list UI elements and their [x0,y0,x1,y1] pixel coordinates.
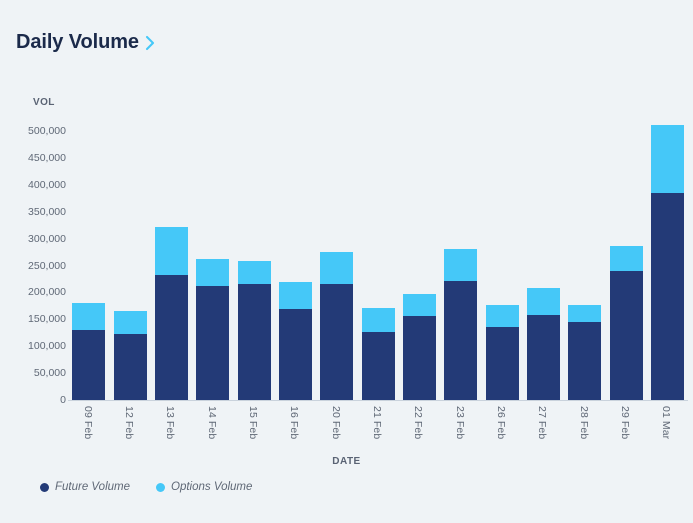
y-axis-tick-label: 250,000 [4,260,66,272]
bar-group[interactable] [403,293,436,400]
legend-label: Options Volume [171,481,252,493]
bar-segment-future-volume[interactable] [403,316,436,400]
bar-group[interactable] [114,311,147,400]
legend-item[interactable]: Future Volume [40,481,130,493]
bar-segment-options-volume[interactable] [403,294,436,316]
x-axis-tick-label: 26 Feb [495,406,507,439]
y-axis-tick-label: 450,000 [4,152,66,164]
y-axis-tick-label: 350,000 [4,206,66,218]
bar-group[interactable] [527,288,560,400]
x-axis-line [68,400,688,401]
bar-group[interactable] [568,305,601,400]
bar-segment-options-volume[interactable] [196,259,229,286]
chevron-right-icon[interactable] [143,34,157,52]
bar-segment-options-volume[interactable] [320,252,353,284]
bar-segment-options-volume[interactable] [527,288,560,315]
bar-group[interactable] [279,282,312,400]
bar-group[interactable] [486,305,519,400]
bar-segment-future-volume[interactable] [114,334,147,400]
bar-segment-future-volume[interactable] [196,286,229,400]
bar-segment-future-volume[interactable] [238,284,271,400]
x-axis-tick-label: 01 Mar [660,406,672,439]
bars-layer [68,110,688,400]
y-axis-tick-label: 400,000 [4,179,66,191]
legend-swatch-icon [40,483,49,492]
x-axis-tick-label: 16 Feb [288,406,300,439]
bar-segment-options-volume[interactable] [486,305,519,327]
bar-segment-options-volume[interactable] [651,125,684,193]
x-axis-title: DATE [0,456,693,467]
bar-segment-options-volume[interactable] [362,308,395,332]
bar-segment-options-volume[interactable] [72,303,105,330]
y-axis-tick-label: 100,000 [4,340,66,352]
bar-segment-future-volume[interactable] [527,315,560,400]
bar-group[interactable] [362,308,395,400]
legend-label: Future Volume [55,481,130,493]
x-axis-tick-label: 09 Feb [82,406,94,439]
bar-segment-future-volume[interactable] [362,332,395,400]
x-axis-tick-label: 22 Feb [412,406,424,439]
x-axis-tick-labels: 09 Feb12 Feb13 Feb14 Feb15 Feb16 Feb20 F… [68,404,688,454]
bar-group[interactable] [72,303,105,400]
bar-segment-options-volume[interactable] [444,249,477,281]
x-axis-tick-label: 23 Feb [454,406,466,439]
x-axis-tick-label: 13 Feb [164,406,176,439]
x-axis-tick-label: 21 Feb [371,406,383,439]
bar-segment-future-volume[interactable] [651,193,684,400]
y-axis-tick-label: 200,000 [4,286,66,298]
bar-segment-options-volume[interactable] [155,227,188,274]
bar-segment-options-volume[interactable] [568,305,601,322]
bar-segment-future-volume[interactable] [568,322,601,400]
bar-group[interactable] [196,259,229,400]
chart-legend: Future VolumeOptions Volume [40,481,252,493]
chart-plot-area: Daily Volume VOL 050,000100,000150,00020… [0,0,693,523]
bar-segment-future-volume[interactable] [72,330,105,400]
legend-item[interactable]: Options Volume [156,481,252,493]
x-axis-tick-label: 14 Feb [206,406,218,439]
y-axis-tick-label: 50,000 [4,367,66,379]
bar-group[interactable] [651,125,684,400]
x-axis-tick-label: 20 Feb [330,406,342,439]
bar-group[interactable] [610,246,643,400]
x-axis-tick-label: 29 Feb [619,406,631,439]
y-axis-tick-labels: 050,000100,000150,000200,000250,000300,0… [0,0,66,523]
bar-segment-options-volume[interactable] [610,246,643,272]
bar-group[interactable] [444,249,477,400]
bar-group[interactable] [238,261,271,400]
bar-segment-future-volume[interactable] [610,271,643,400]
bar-segment-options-volume[interactable] [114,311,147,334]
x-axis-tick-label: 28 Feb [578,406,590,439]
y-axis-tick-label: 0 [4,394,66,406]
y-axis-tick-label: 150,000 [4,313,66,325]
bar-group[interactable] [320,252,353,400]
bar-segment-future-volume[interactable] [155,275,188,400]
bar-segment-future-volume[interactable] [279,309,312,400]
x-axis-tick-label: 27 Feb [536,406,548,439]
x-axis-tick-label: 15 Feb [247,406,259,439]
bar-segment-future-volume[interactable] [444,281,477,400]
bar-segment-options-volume[interactable] [279,282,312,309]
bar-segment-future-volume[interactable] [486,327,519,400]
x-axis-tick-label: 12 Feb [123,406,135,439]
legend-swatch-icon [156,483,165,492]
bar-segment-future-volume[interactable] [320,284,353,400]
y-axis-tick-label: 500,000 [4,125,66,137]
bar-group[interactable] [155,227,188,400]
bar-segment-options-volume[interactable] [238,261,271,284]
y-axis-tick-label: 300,000 [4,233,66,245]
